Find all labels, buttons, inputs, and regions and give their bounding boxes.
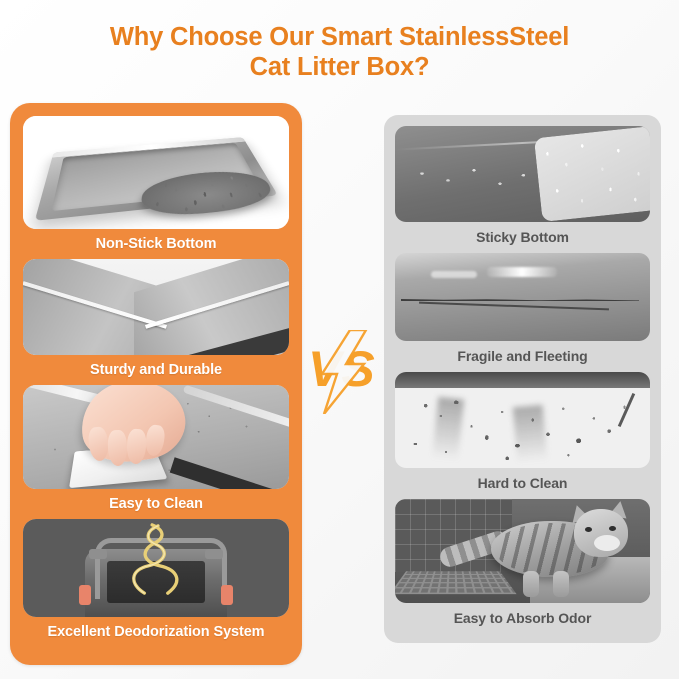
others-comparison-panel: Sticky Bottom Fragile and Fleeting	[384, 115, 661, 643]
page-title-line-1: Why Choose Our Smart StainlessSteel	[110, 23, 569, 51]
ours-feature-easy-to-clean: Easy to Clean	[23, 385, 289, 519]
others-drawback-fragile: Fragile and Fleeting	[395, 253, 650, 372]
others-drawback-image-card	[395, 372, 650, 468]
stainless-tray-with-litter-image	[23, 116, 289, 229]
others-drawback-image-card	[395, 126, 650, 222]
others-drawback-label: Fragile and Fleeting	[395, 341, 650, 372]
infographic-page: Why Choose Our Smart StainlessSteel Cat …	[0, 0, 679, 679]
page-title-line-2: Cat Litter Box?	[0, 52, 679, 82]
others-drawback-label: Hard to Clean	[395, 468, 650, 499]
ours-feature-image-card	[23, 259, 289, 355]
others-drawback-hard-to-clean: Hard to Clean	[395, 372, 650, 499]
vs-lightning-icon: VS	[306, 330, 382, 414]
others-drawback-absorb-odor: Easy to Absorb Odor	[395, 499, 650, 634]
others-drawback-image-card	[395, 499, 650, 603]
ours-feature-label: Easy to Clean	[23, 489, 289, 519]
scattered-dirt-image	[395, 372, 650, 468]
cracked-plastic-image	[395, 253, 650, 341]
odor-swirl-icon	[119, 521, 197, 599]
ours-feature-label: Excellent Deodorization System	[23, 617, 289, 647]
sticky-litter-residue-image	[395, 126, 650, 222]
vs-badge: VS	[306, 330, 382, 414]
page-title: Why Choose Our Smart StainlessSteel Cat …	[0, 22, 679, 82]
others-drawback-image-card	[395, 253, 650, 341]
others-drawback-label: Sticky Bottom	[395, 222, 650, 253]
ours-feature-deodorization: Excellent Deodorization System	[23, 519, 289, 647]
others-drawback-label: Easy to Absorb Odor	[395, 603, 650, 634]
ours-comparison-panel: Non-Stick Bottom Sturdy and Durable	[10, 103, 302, 665]
ours-feature-non-stick-bottom: Non-Stick Bottom	[23, 116, 289, 259]
ours-feature-label: Sturdy and Durable	[23, 355, 289, 385]
welded-corner-closeup-image	[23, 259, 289, 355]
deodorization-device-image	[23, 519, 289, 617]
ours-feature-image-card	[23, 519, 289, 617]
hand-wiping-tray-image	[23, 385, 289, 489]
ours-feature-image-card	[23, 385, 289, 489]
others-drawback-sticky-bottom: Sticky Bottom	[395, 126, 650, 253]
ours-feature-label: Non-Stick Bottom	[23, 229, 289, 259]
ours-feature-image-card	[23, 116, 289, 229]
ours-feature-sturdy-and-durable: Sturdy and Durable	[23, 259, 289, 385]
cat-in-litter-box-image	[395, 499, 650, 603]
